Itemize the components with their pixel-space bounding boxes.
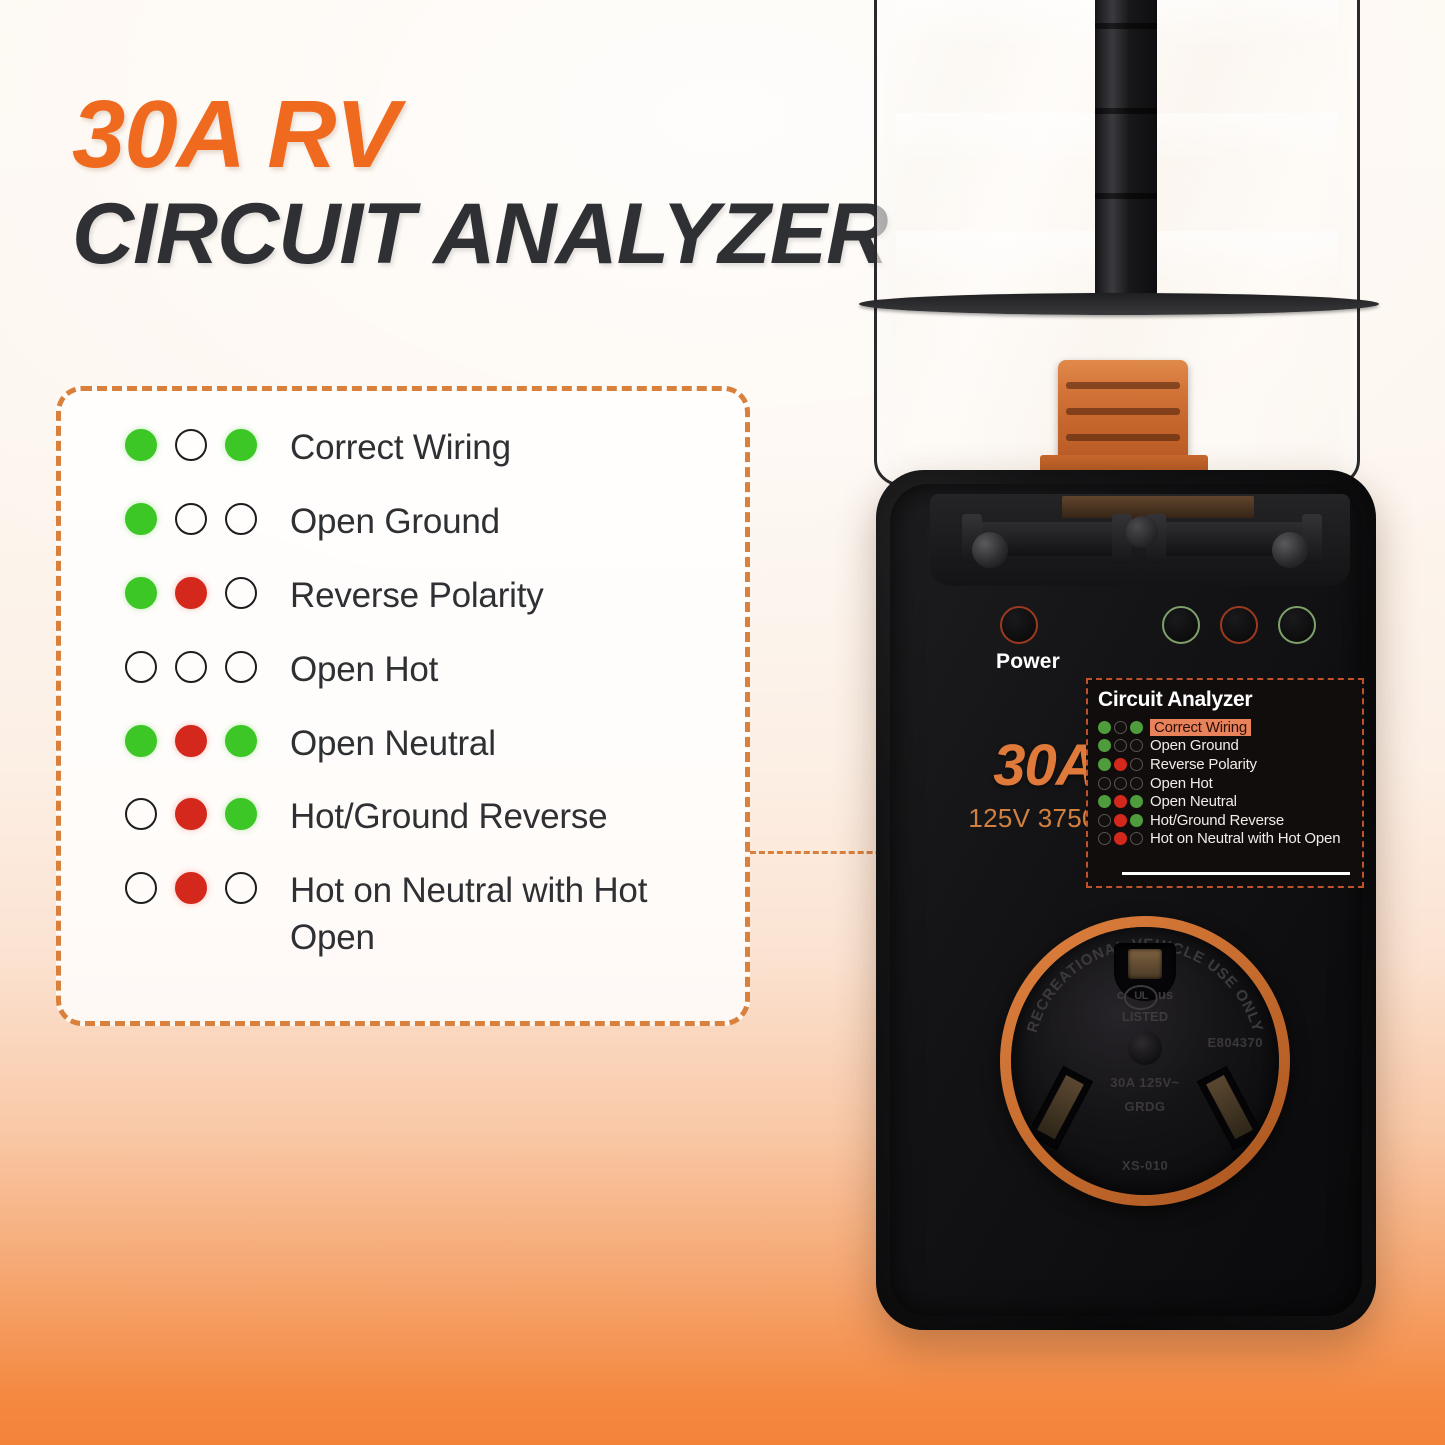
legend-led-off [125,651,157,683]
legend-led-green [225,725,257,757]
label-panel-row: Hot/Ground Reverse [1098,811,1360,830]
analyzer-body: Power 30A 125V 3750W Circuit Analyzer Co… [876,470,1376,1330]
ul-listed-mark: cULus LISTED [1117,985,1173,1025]
legend-led-group [125,425,290,461]
label-panel-led-red [1114,832,1127,845]
label-panel-rows: Correct WiringOpen GroundReverse Polarit… [1098,718,1360,848]
analyzer-body-face: Power 30A 125V 3750W Circuit Analyzer Co… [890,484,1362,1316]
label-panel-led-green [1098,758,1111,771]
ul-listed-text: LISTED [1117,1010,1173,1025]
legend-led-group [125,499,290,535]
indicator-led-hot [1278,606,1316,644]
ul-logo: UL [1124,985,1158,1010]
label-panel-led-off [1130,758,1143,771]
legend-row: Reverse Polarity [125,573,660,620]
label-panel-row: Open Neutral [1098,792,1360,811]
legend-led-group [125,868,290,904]
legend-led-green [125,429,157,461]
label-panel-row-text: Open Hot [1150,775,1213,792]
hinge-screw-cap [1272,532,1308,568]
indicator-led-ground [1162,606,1200,644]
legend-led-group [125,647,290,683]
label-panel-row: Open Hot [1098,774,1360,793]
label-panel-led-off [1098,777,1111,790]
indicator-led-neutral [1220,606,1258,644]
legend-row: Hot/Ground Reverse [125,794,660,841]
label-panel-row-text: Open Ground [1150,737,1239,754]
legend-led-red [175,872,207,904]
label-panel-led-red [1114,795,1127,808]
legend-row: Hot on Neutral with Hot Open [125,868,660,962]
legend-led-green [125,503,157,535]
label-panel-rule [1122,872,1350,875]
legend-row: Open Hot [125,647,660,694]
label-panel-led-group [1098,814,1150,827]
tt30r-receptacle: RECREATIONAL VEHICLE USE ONLY cULus LIST… [1000,916,1290,1206]
label-panel-led-green [1098,795,1111,808]
legend-led-green [225,798,257,830]
ul-prefix: c [1117,987,1124,1002]
label-panel-led-off [1098,814,1111,827]
legend-row: Correct Wiring [125,425,660,472]
legend-led-off [225,872,257,904]
legend-led-off [225,651,257,683]
legend-row: Open Ground [125,499,660,546]
lid-flange-ring [859,293,1379,315]
legend-led-off [175,651,207,683]
legend-row: Open Neutral [125,721,660,768]
label-panel-led-off [1098,832,1111,845]
hinge-screw-cap [972,532,1008,568]
label-panel-led-off [1130,832,1143,845]
label-panel-led-group [1098,777,1150,790]
legend-led-red [175,798,207,830]
label-panel-led-green [1130,795,1143,808]
label-panel-led-off [1114,777,1127,790]
legend-led-red [175,577,207,609]
device-photo: Power 30A 125V 3750W Circuit Analyzer Co… [862,0,1445,1330]
lid-hinge-assembly [930,494,1350,586]
legend-led-group [125,794,290,830]
legend-label: Open Ground [290,499,500,546]
receptacle-face: RECREATIONAL VEHICLE USE ONLY cULus LIST… [1011,927,1279,1195]
label-panel-led-group [1098,721,1150,734]
legend-led-green [125,725,157,757]
legend-led-group [125,573,290,609]
legend-led-off [125,798,157,830]
label-panel-row: Open Ground [1098,737,1360,756]
label-panel-row-text: Hot/Ground Reverse [1150,812,1284,829]
label-panel-row-text: Hot on Neutral with Hot Open [1150,830,1340,847]
hinge-center-pin [1126,516,1158,548]
receptacle-center-hole [1128,1031,1162,1065]
legend-led-green [125,577,157,609]
legend-led-green [225,429,257,461]
label-panel-led-red [1114,814,1127,827]
label-panel-led-green [1130,814,1143,827]
receptacle-model: XS-010 [1122,1158,1168,1173]
label-panel-row: Hot on Neutral with Hot Open [1098,830,1360,849]
receptacle-grounding: GRDG [1125,1099,1166,1114]
legend-label: Hot on Neutral with Hot Open [290,868,660,962]
label-panel-led-off [1114,739,1127,752]
label-panel-led-off [1130,739,1143,752]
legend-label: Open Neutral [290,721,496,768]
device-label-panel: Circuit Analyzer Correct WiringOpen Grou… [1086,678,1364,888]
lid-center-post [1095,0,1157,313]
legend-list: Correct WiringOpen GroundReverse Polarit… [125,425,660,962]
label-panel-led-off [1130,777,1143,790]
legend-led-off [125,872,157,904]
label-panel-row-text: Reverse Polarity [1150,756,1257,773]
label-panel-led-red [1114,758,1127,771]
label-panel-led-group [1098,739,1150,752]
headline-line-1: 30A RV [72,86,892,184]
headline-line-2: CIRCUIT ANALYZER [72,188,892,281]
label-panel-led-green [1098,739,1111,752]
receptacle-rating: 30A 125V~ [1110,1075,1179,1090]
legend-callout-box: Correct WiringOpen GroundReverse Polarit… [56,386,750,1026]
legend-label: Correct Wiring [290,425,511,472]
label-panel-row: Reverse Polarity [1098,755,1360,774]
legend-led-off [225,577,257,609]
label-panel-led-group [1098,832,1150,845]
legend-led-group [125,721,290,757]
page-title: 30A RV CIRCUIT ANALYZER [72,86,892,281]
label-panel-led-green [1130,721,1143,734]
product-infographic: 30A RV CIRCUIT ANALYZER Correct WiringOp… [0,0,1445,1445]
label-panel-row-text: Open Neutral [1150,793,1237,810]
legend-led-red [175,725,207,757]
power-label: Power [996,650,1060,674]
copper-threaded-collar [1058,360,1188,470]
label-panel-led-group [1098,795,1150,808]
ul-suffix: us [1158,987,1173,1002]
label-panel-row: Correct Wiring [1098,718,1360,737]
label-panel-title: Circuit Analyzer [1098,688,1252,712]
label-panel-led-green [1098,721,1111,734]
label-panel-led-off [1114,721,1127,734]
label-panel-row-text: Correct Wiring [1150,719,1251,736]
receptacle-file-number: E804370 [1207,1035,1263,1050]
legend-label: Open Hot [290,647,438,694]
legend-label: Hot/Ground Reverse [290,794,607,841]
legend-led-off [175,503,207,535]
legend-led-off [225,503,257,535]
legend-led-off [175,429,207,461]
power-led [1000,606,1038,644]
legend-label: Reverse Polarity [290,573,544,620]
label-panel-led-group [1098,758,1150,771]
